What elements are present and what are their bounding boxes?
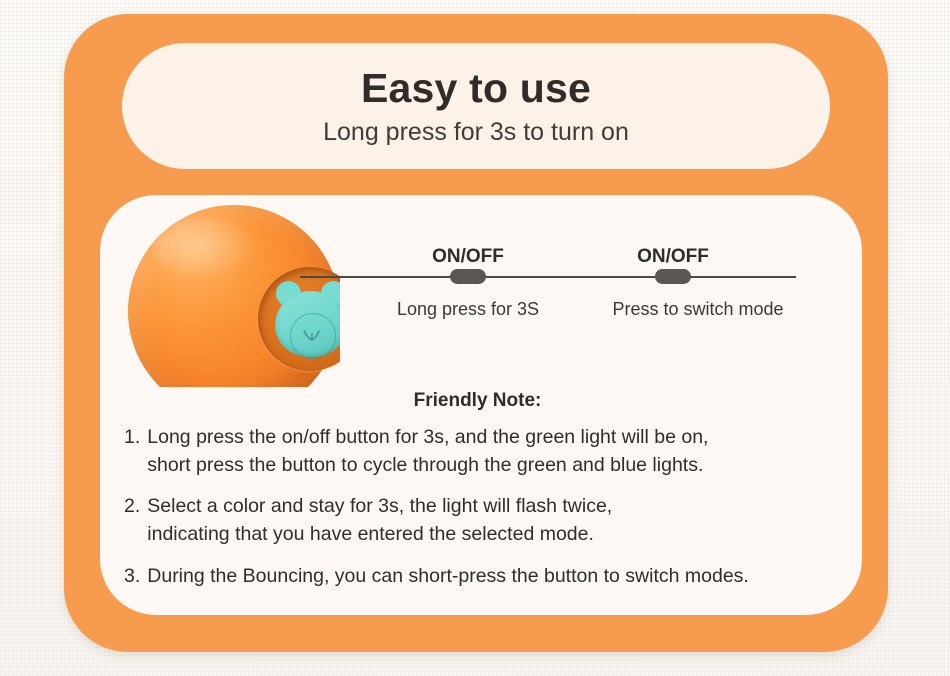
page-title: Easy to use [361, 68, 591, 109]
list-item-text: During the Bouncing, you can short-press… [147, 563, 854, 591]
friendly-note-heading: Friendly Note: [0, 390, 950, 412]
callout-marker-2 [655, 269, 691, 284]
callout-label-1: ON/OFF [408, 246, 528, 268]
list-item-line1: Select a color and stay for 3s, the ligh… [147, 495, 612, 517]
power-button-icon [301, 329, 323, 343]
list-item-number: 3. [124, 563, 140, 591]
list-item: 1. Long press the on/off button for 3s, … [124, 424, 854, 479]
list-item-number: 1. [124, 424, 140, 452]
bear-face [275, 291, 340, 357]
ball-seam [128, 320, 199, 387]
ball-highlight [154, 219, 258, 281]
bear-power-button[interactable] [274, 281, 340, 357]
callout-caption-1: Long press for 3S [373, 299, 563, 320]
product-ball-image [128, 205, 340, 387]
list-item-line1: During the Bouncing, you can short-press… [147, 565, 749, 587]
list-item-line2: indicating that you have entered the sel… [147, 521, 854, 549]
callout-marker-1 [450, 269, 486, 284]
callout-label-2: ON/OFF [613, 246, 733, 268]
list-item-line2: short press the button to cycle through … [147, 452, 854, 480]
list-item-text: Select a color and stay for 3s, the ligh… [147, 493, 854, 548]
list-item-line1: Long press the on/off button for 3s, and… [147, 426, 708, 448]
list-item: 3. During the Bouncing, you can short-pr… [124, 563, 854, 591]
page-subtitle: Long press for 3s to turn on [323, 120, 629, 145]
list-item-number: 2. [124, 493, 140, 521]
list-item: 2. Select a color and stay for 3s, the l… [124, 493, 854, 548]
callout-leader-line [300, 276, 796, 278]
header-card: Easy to use Long press for 3s to turn on [122, 43, 830, 169]
list-item-text: Long press the on/off button for 3s, and… [147, 424, 854, 479]
callout-caption-2: Press to switch mode [583, 299, 813, 320]
friendly-note-list: 1. Long press the on/off button for 3s, … [124, 424, 854, 604]
